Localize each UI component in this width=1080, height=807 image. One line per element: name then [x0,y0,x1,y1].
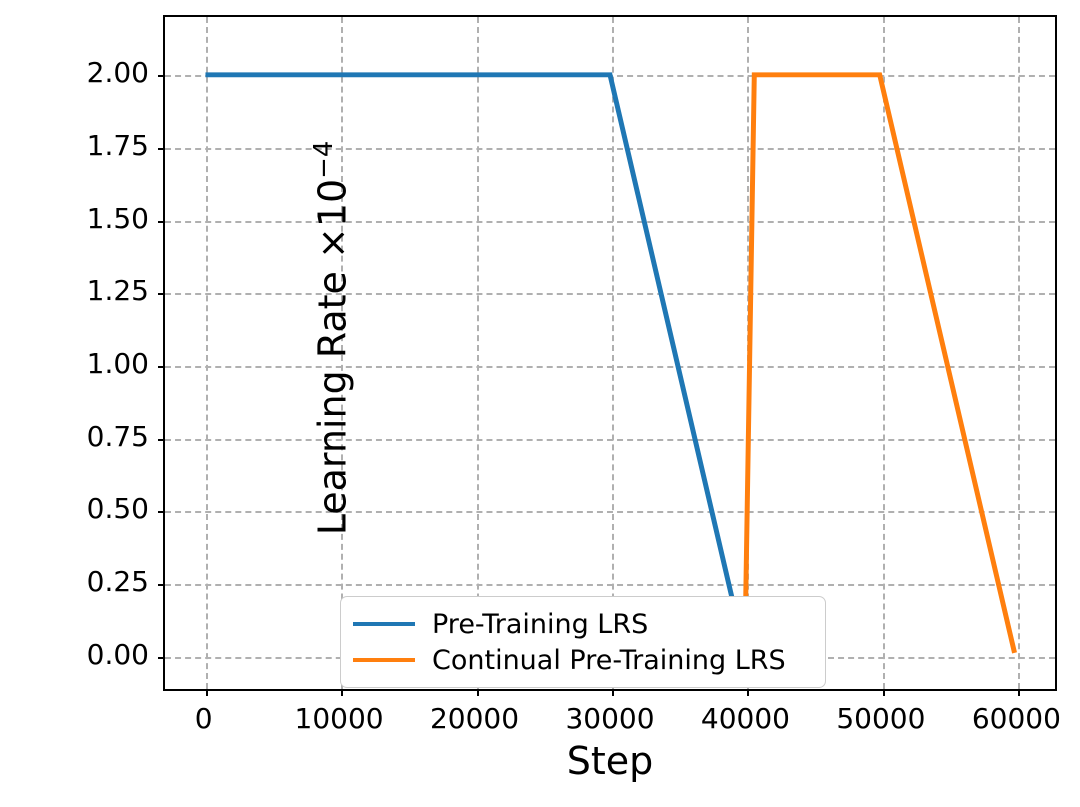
y-tick-mark [158,221,165,223]
series-line-continual-pre-training [745,75,1015,653]
y-tick-mark [158,366,165,368]
x-axis-title: Step [163,742,1057,780]
y-axis-title: Learning Rate ×10−4 [312,0,364,676]
y-axis-title-text: Learning Rate ×10 [311,179,355,535]
x-tick-label: 30000 [565,705,654,733]
y-tick-mark [158,439,165,441]
x-tick-label: 40000 [701,705,790,733]
y-tick-mark [158,148,165,150]
x-tick-mark [206,689,208,696]
x-tick-label: 60000 [972,705,1061,733]
y-axis-title-exponent: −4 [309,141,339,179]
plot-area: Pre-Training LRS Continual Pre-Training … [163,15,1057,691]
y-tick-mark [158,293,165,295]
y-tick-label: 1.25 [87,277,149,305]
y-tick-label: 0.00 [87,641,149,669]
y-tick-label: 0.75 [87,423,149,451]
y-tick-mark [158,511,165,513]
legend-box[interactable]: Pre-Training LRS Continual Pre-Training … [340,596,826,688]
x-tick-label: 10000 [295,705,384,733]
y-tick-mark [158,584,165,586]
legend-entry-continual-pre-training[interactable]: Continual Pre-Training LRS [353,643,813,677]
figure-canvas: Pre-Training LRS Continual Pre-Training … [0,0,1080,807]
x-tick-mark [341,689,343,696]
y-tick-mark [158,657,165,659]
y-tick-label: 0.50 [87,495,149,523]
x-tick-mark [1018,689,1020,696]
x-tick-label: 0 [195,705,213,733]
x-tick-mark [747,689,749,696]
y-tick-label: 1.75 [87,132,149,160]
legend-label-continual-pre-training: Continual Pre-Training LRS [432,647,786,674]
x-tick-label: 20000 [430,705,519,733]
x-tick-mark [883,689,885,696]
y-tick-label: 1.00 [87,350,149,378]
series-line-pre-training [205,75,744,653]
legend-entry-pre-training[interactable]: Pre-Training LRS [353,607,813,641]
data-series-layer [165,17,1055,689]
x-tick-mark [612,689,614,696]
legend-label-pre-training: Pre-Training LRS [432,611,648,638]
x-tick-mark [477,689,479,696]
x-tick-label: 50000 [836,705,925,733]
y-tick-label: 0.25 [87,568,149,596]
y-tick-label: 1.50 [87,205,149,233]
y-tick-label: 2.00 [87,59,149,87]
y-tick-mark [158,75,165,77]
